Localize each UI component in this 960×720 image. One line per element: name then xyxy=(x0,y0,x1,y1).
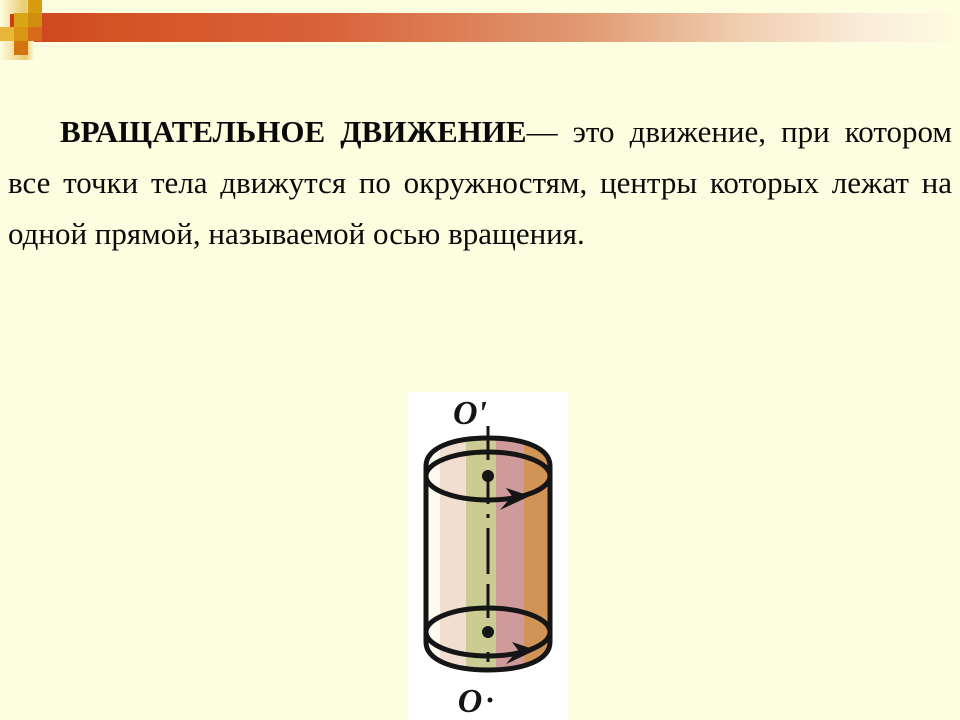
square-amber-mid2 xyxy=(14,27,28,41)
square-amber-mid xyxy=(14,13,28,27)
top-center-dot xyxy=(482,470,494,482)
decorative-header-band xyxy=(0,0,960,60)
header-orange-bar xyxy=(24,13,960,42)
cylinder-illustration: O' O xyxy=(408,392,568,720)
square-orange-deep xyxy=(14,41,28,55)
axis-label-bottom: O xyxy=(458,683,483,720)
term-heading: ВРАЩАТЕЛЬНОЕ ДВИЖЕНИЕ xyxy=(60,114,527,149)
figure-container: O' O xyxy=(408,392,568,720)
axis-label-top: O' xyxy=(453,395,487,432)
square-gold-top xyxy=(28,0,42,13)
bottom-label-tick xyxy=(488,698,493,703)
bottom-center-dot xyxy=(482,626,494,638)
square-orange-low xyxy=(28,27,42,41)
square-pale-a xyxy=(0,27,14,41)
square-gold-upper xyxy=(28,13,42,27)
definition-paragraph: ВРАЩАТЕЛЬНОЕ ДВИЖЕНИЕ— это движение, при… xyxy=(8,106,952,259)
